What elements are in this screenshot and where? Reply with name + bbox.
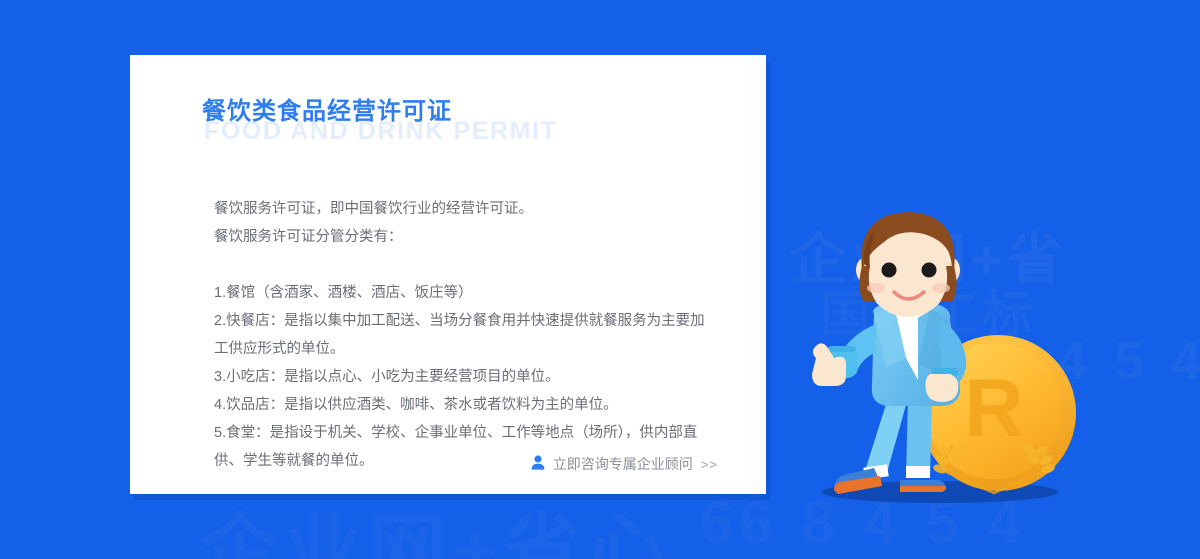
head	[856, 212, 960, 317]
list-item: 3.小吃店：是指以点心、小吃为主要经营项目的单位。	[214, 363, 716, 391]
list-item: 1.餐馆（含酒家、酒楼、酒店、饭庄等）	[214, 279, 716, 307]
businesswoman-coin-illustration: R	[790, 208, 1080, 508]
consult-advisor-link[interactable]: 立即咨询专属企业顾问 >>	[531, 454, 718, 474]
lead-paragraph: 餐饮服务许可证，即中国餐饮行业的经营许可证。	[214, 195, 716, 223]
background-watermark: 企业网+省心	[200, 488, 672, 559]
heading-block: FOOD AND DRINK PERMIT 餐饮类食品经营许可证	[170, 87, 726, 149]
eye-right	[922, 263, 937, 278]
page-title: 餐饮类食品经营许可证	[202, 91, 452, 126]
content-card: FOOD AND DRINK PERMIT 餐饮类食品经营许可证 餐饮服务许可证…	[130, 55, 766, 494]
cta-arrows: >>	[701, 457, 718, 472]
coin-letter: R	[964, 363, 1023, 454]
list-item: 2.快餐店：是指以集中加工配送、当场分餐食用并快速提供就餐服务为主要加工供应形式…	[214, 307, 716, 363]
thumbs-up-arm	[812, 324, 876, 386]
page-background: 企业网 企业网+省 国家工标 8 4 5 4 企业网+省心 66 8 4 5 4	[0, 0, 1200, 559]
list-item: 4.饮品店：是指以供应酒类、咖啡、茶水或者饮料为主的单位。	[214, 391, 716, 419]
person-icon	[531, 455, 545, 473]
legs	[863, 396, 932, 480]
lead-paragraph: 餐饮服务许可证分管分类有：	[214, 223, 716, 251]
cta-row: 立即咨询专属企业顾问 >>	[130, 454, 766, 474]
lead-paragraphs: 餐饮服务许可证，即中国餐饮行业的经营许可证。 餐饮服务许可证分管分类有：	[214, 195, 716, 251]
category-list: 1.餐馆（含酒家、酒楼、酒店、饭庄等） 2.快餐店：是指以集中加工配送、当场分餐…	[214, 279, 716, 475]
cta-label: 立即咨询专属企业顾问	[553, 454, 693, 474]
body-copy: 餐饮服务许可证，即中国餐饮行业的经营许可证。 餐饮服务许可证分管分类有： 1.餐…	[170, 195, 726, 475]
eye-left	[882, 263, 897, 278]
